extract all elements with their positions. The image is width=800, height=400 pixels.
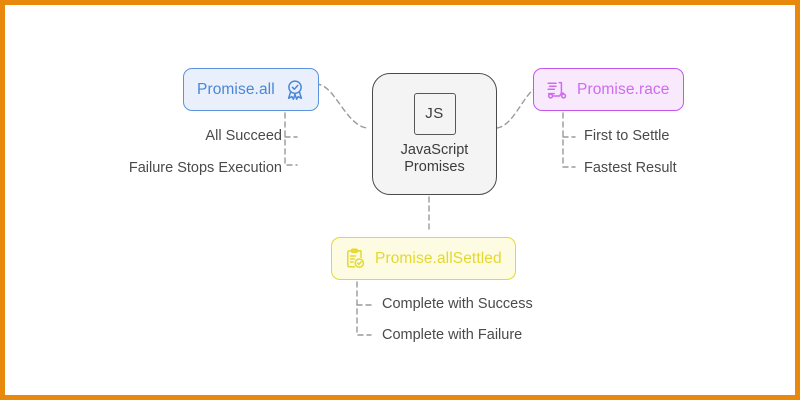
center-node-title: JavaScript Promises xyxy=(401,142,469,176)
clipboard-check-icon xyxy=(343,247,367,271)
award-badge-check-icon xyxy=(283,78,307,102)
branch-node-promise-all[interactable]: Promise.all xyxy=(183,68,319,111)
center-node-title-line-1: JavaScript xyxy=(401,142,469,159)
branch-label-promise-allsettled: Promise.allSettled xyxy=(375,250,502,268)
leaf-first-to-settle: First to Settle xyxy=(584,128,669,144)
connector-allsettled-leaf-1 xyxy=(357,282,371,335)
branch-label-promise-all: Promise.all xyxy=(197,81,275,99)
branch-label-promise-race: Promise.race xyxy=(577,81,670,99)
center-node-javascript-promises[interactable]: JS JavaScript Promises xyxy=(372,73,497,195)
branch-node-promise-race[interactable]: Promise.race xyxy=(533,68,684,111)
diagram-canvas: JS JavaScript Promises Promise.all All S… xyxy=(5,5,795,395)
connector-center-to-all xyxy=(316,84,367,128)
leaf-fastest-result: Fastest Result xyxy=(584,160,677,176)
scooter-speed-icon xyxy=(545,78,569,102)
branch-node-promise-allsettled[interactable]: Promise.allSettled xyxy=(331,237,516,280)
leaf-all-succeed: All Succeed xyxy=(205,128,282,144)
js-logo-icon: JS xyxy=(414,93,456,135)
page-frame: JS JavaScript Promises Promise.all All S… xyxy=(0,0,800,400)
leaf-complete-with-failure: Complete with Failure xyxy=(382,327,522,343)
connector-race-leaf-1 xyxy=(563,113,575,167)
leaf-failure-stops-execution: Failure Stops Execution xyxy=(129,160,282,176)
js-badge-text: JS xyxy=(425,105,444,122)
leaf-complete-with-success: Complete with Success xyxy=(382,296,533,312)
center-node-title-line-2: Promises xyxy=(401,159,469,176)
connector-all-leaf-1 xyxy=(285,113,297,165)
